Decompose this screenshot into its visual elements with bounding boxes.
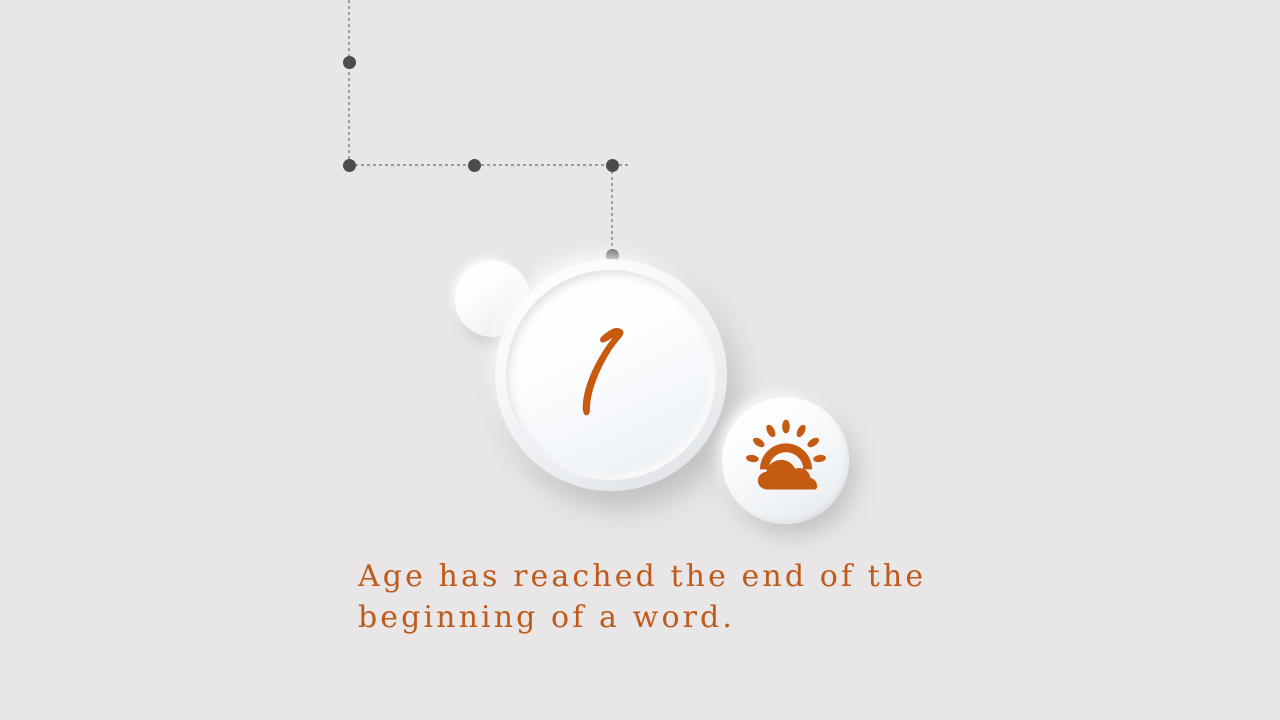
caption-line-1: Age has reached the end of the [358,556,958,597]
connector-node-top [343,56,356,69]
slide-canvas: Age has reached the end of the beginning… [0,0,1280,720]
brush-numeral-one-icon [551,315,671,435]
caption-line-2: beginning of a word. [358,597,958,638]
connector-node-corner-left [343,159,356,172]
main-circle[interactable] [495,259,727,491]
caption-block: Age has reached the end of the beginning… [358,556,958,638]
connector-node-middle [468,159,481,172]
connector-node-corner-right [606,159,619,172]
weather-badge[interactable] [722,397,849,524]
sun-behind-cloud-icon [744,419,828,503]
